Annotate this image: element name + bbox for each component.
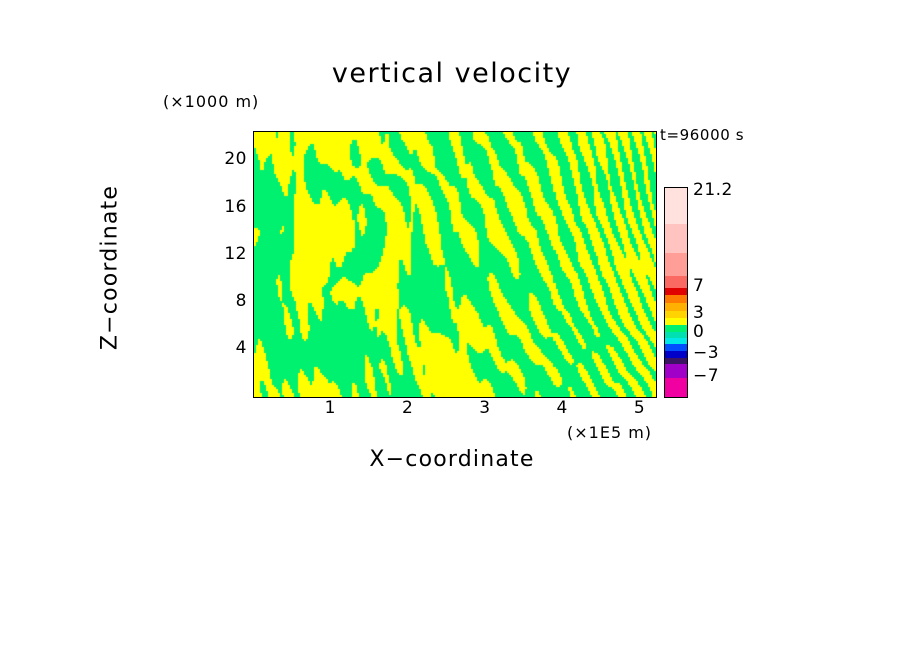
colorbar-band (665, 311, 687, 318)
colorbar-tick-labels: 21.2730−3−7 (693, 180, 783, 410)
y-tick-label: 20 (207, 149, 247, 169)
x-tick-label: 3 (465, 398, 505, 418)
colorbar-band (665, 378, 687, 397)
colorbar-band (665, 364, 687, 378)
x-axis-units-label: (×1E5 m) (567, 423, 652, 442)
x-axis-title: X−coordinate (0, 447, 904, 472)
y-tick-label: 4 (207, 338, 247, 358)
colorbar-band (665, 344, 687, 351)
page-title: vertical velocity (0, 58, 904, 89)
colorbar-band (665, 276, 687, 288)
y-tick-label: 8 (207, 291, 247, 311)
colorbar-tick-label: 21.2 (693, 180, 733, 200)
colorbar-band (665, 253, 687, 275)
colorbar-band (665, 325, 687, 333)
colorbar-band (665, 224, 687, 253)
y-tick-label: 16 (207, 197, 247, 217)
colorbar-tick-label: 3 (693, 303, 704, 323)
contour-plot-area[interactable] (253, 131, 657, 398)
vertical-velocity-field (254, 132, 656, 397)
y-tick-label: 12 (207, 244, 247, 264)
x-tick-label: 5 (620, 398, 660, 418)
x-tick-label: 1 (310, 398, 350, 418)
colorbar-tick-label: 0 (693, 322, 704, 342)
colorbar-band (665, 288, 687, 296)
colorbar-tick-label: −7 (693, 366, 719, 386)
colorbar-tick-label: 7 (693, 276, 704, 296)
colorbar-band (665, 303, 687, 311)
time-annotation: t=96000 s (660, 126, 744, 144)
colorbar-band (665, 295, 687, 303)
colorbar-band (665, 318, 687, 325)
y-axis-title: Z−coordinate (98, 148, 123, 388)
colorbar-tick-label: −3 (693, 343, 719, 363)
colorbar-band (665, 351, 687, 358)
y-axis-tick-labels: 20161284 (203, 131, 247, 396)
y-axis-units-label: (×1000 m) (163, 92, 259, 111)
colorbar-band (665, 188, 687, 224)
x-axis-tick-labels: 12345 (253, 398, 655, 424)
colorbar[interactable] (664, 187, 688, 398)
x-tick-label: 4 (542, 398, 582, 418)
x-tick-label: 2 (388, 398, 428, 418)
